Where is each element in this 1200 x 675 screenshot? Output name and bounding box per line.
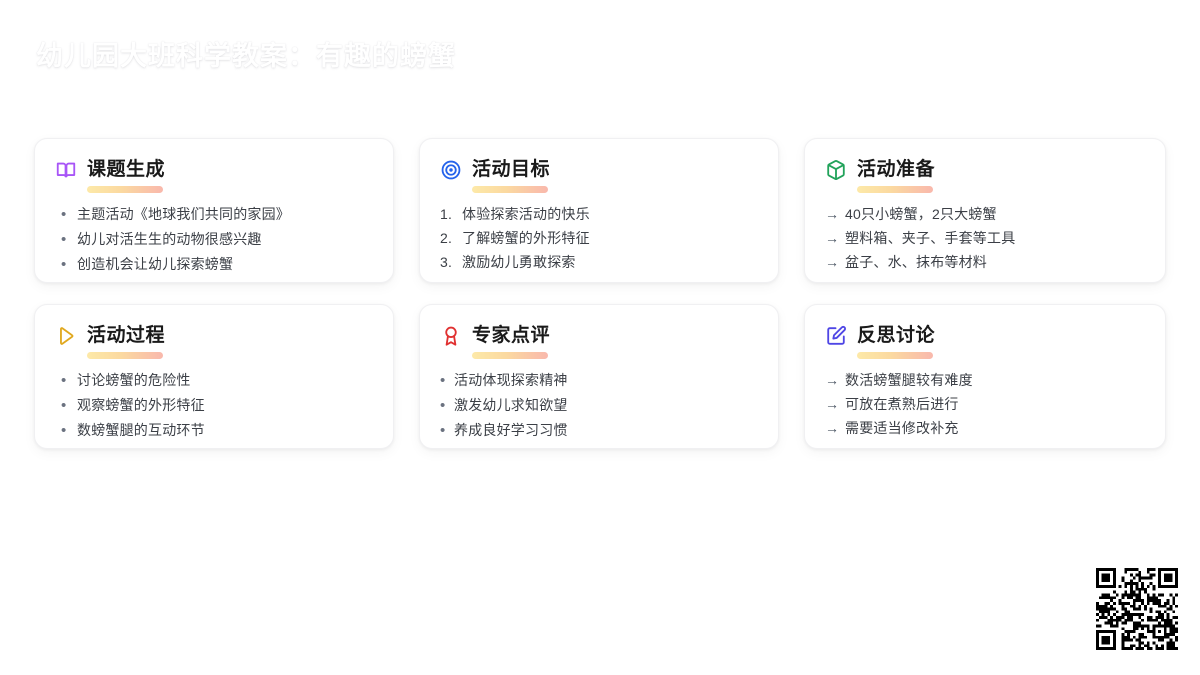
card-header: 活动过程	[55, 323, 373, 349]
list-item-text: 激发幼儿求知欲望	[454, 393, 568, 417]
list-item-text: 塑料箱、夹子、手套等工具	[845, 226, 1015, 250]
card-title: 活动过程	[87, 324, 165, 348]
card-title: 活动准备	[857, 158, 935, 182]
list-item: → 需要适当修改补充	[825, 416, 1145, 440]
list-marker: →	[825, 416, 845, 440]
card-activity-preparation[interactable]: 活动准备 → 40只小螃蟹，2只大螃蟹 → 塑料箱、夹子、手套等工具 → 盆子、…	[804, 138, 1166, 283]
card-list: 1. 体验探索活动的快乐 2. 了解螃蟹的外形特征 3. 激励幼儿勇敢探索	[440, 202, 758, 274]
list-marker: →	[825, 392, 845, 416]
list-item-text: 可放在煮熟后进行	[845, 392, 959, 416]
list-item-text: 活动体现探索精神	[454, 368, 568, 392]
card-reflection-discussion[interactable]: 反思讨论 → 数活螃蟹腿较有难度 → 可放在煮熟后进行 → 需要适当修改补充	[804, 304, 1166, 449]
list-item: → 可放在煮熟后进行	[825, 392, 1145, 416]
page-title: 幼儿园大班科学教案：有趣的螃蟹	[36, 36, 456, 76]
title-underline	[857, 352, 933, 359]
list-item: • 幼儿对活生生的动物很感兴趣	[55, 227, 373, 252]
card-header: 活动目标	[440, 157, 758, 183]
list-item-text: 盆子、水、抹布等材料	[845, 250, 987, 274]
card-list: • 主题活动《地球我们共同的家园》 • 幼儿对活生生的动物很感兴趣 • 创造机会…	[55, 202, 373, 277]
list-item-text: 40只小螃蟹，2只大螃蟹	[845, 202, 997, 226]
list-item: • 活动体现探索精神	[440, 368, 758, 393]
list-item: • 养成良好学习习惯	[440, 418, 758, 443]
package-box-icon	[825, 159, 847, 181]
list-item-text: 体验探索活动的快乐	[462, 202, 590, 226]
edit-square-pen-icon	[825, 325, 847, 347]
card-grid: 课题生成 • 主题活动《地球我们共同的家园》 • 幼儿对活生生的动物很感兴趣 •…	[34, 138, 1166, 449]
list-marker: •	[55, 369, 77, 393]
list-item: → 40只小螃蟹，2只大螃蟹	[825, 202, 1145, 226]
card-header: 反思讨论	[825, 323, 1145, 349]
card-title: 专家点评	[472, 324, 550, 348]
card-header: 活动准备	[825, 157, 1145, 183]
list-marker: 2.	[440, 226, 462, 250]
list-item-text: 观察螃蟹的外形特征	[77, 393, 205, 417]
card-title: 活动目标	[472, 158, 550, 182]
list-marker: →	[825, 250, 845, 274]
list-item: 3. 激励幼儿勇敢探索	[440, 250, 758, 274]
list-item: • 主题活动《地球我们共同的家园》	[55, 202, 373, 227]
card-header: 课题生成	[55, 157, 373, 183]
title-underline	[472, 352, 548, 359]
list-item-text: 创造机会让幼儿探索螃蟹	[77, 252, 233, 276]
list-marker: •	[440, 369, 454, 393]
qr-code[interactable]	[1096, 568, 1178, 650]
list-marker: →	[825, 368, 845, 392]
title-underline	[472, 186, 548, 193]
list-item: 2. 了解螃蟹的外形特征	[440, 226, 758, 250]
award-medal-icon	[440, 325, 462, 347]
list-marker: •	[440, 394, 454, 418]
list-item: • 激发幼儿求知欲望	[440, 393, 758, 418]
list-item: • 观察螃蟹的外形特征	[55, 393, 373, 418]
list-marker: 3.	[440, 250, 462, 274]
card-topic-generation[interactable]: 课题生成 • 主题活动《地球我们共同的家园》 • 幼儿对活生生的动物很感兴趣 •…	[34, 138, 394, 283]
slide-canvas: 幼儿园大班科学教案：有趣的螃蟹 课题生成 • 主题活动《地球我们共同的家园》	[0, 0, 1200, 675]
list-item-text: 讨论螃蟹的危险性	[77, 368, 191, 392]
list-item: → 塑料箱、夹子、手套等工具	[825, 226, 1145, 250]
qr-code-image	[1096, 568, 1178, 650]
list-item: 1. 体验探索活动的快乐	[440, 202, 758, 226]
title-underline	[857, 186, 933, 193]
list-item: • 数螃蟹腿的互动环节	[55, 418, 373, 443]
list-item: → 盆子、水、抹布等材料	[825, 250, 1145, 274]
list-marker: •	[55, 228, 77, 252]
card-title: 反思讨论	[857, 324, 935, 348]
list-marker: •	[440, 419, 454, 443]
card-header: 专家点评	[440, 323, 758, 349]
list-item-text: 数活螃蟹腿较有难度	[845, 368, 973, 392]
list-item: • 讨论螃蟹的危险性	[55, 368, 373, 393]
list-item: → 数活螃蟹腿较有难度	[825, 368, 1145, 392]
card-title: 课题生成	[87, 158, 165, 182]
list-marker: •	[55, 253, 77, 277]
card-list: → 数活螃蟹腿较有难度 → 可放在煮熟后进行 → 需要适当修改补充	[825, 368, 1145, 440]
play-triangle-icon	[55, 325, 77, 347]
list-marker: →	[825, 202, 845, 226]
title-underline	[87, 186, 163, 193]
card-activity-goals[interactable]: 活动目标 1. 体验探索活动的快乐 2. 了解螃蟹的外形特征 3. 激励幼儿勇敢…	[419, 138, 779, 283]
card-list: → 40只小螃蟹，2只大螃蟹 → 塑料箱、夹子、手套等工具 → 盆子、水、抹布等…	[825, 202, 1145, 274]
open-book-icon	[55, 159, 77, 181]
title-underline	[87, 352, 163, 359]
list-item: • 创造机会让幼儿探索螃蟹	[55, 252, 373, 277]
list-item-text: 主题活动《地球我们共同的家园》	[77, 202, 290, 226]
list-item-text: 需要适当修改补充	[845, 416, 959, 440]
list-marker: →	[825, 226, 845, 250]
card-list: • 活动体现探索精神 • 激发幼儿求知欲望 • 养成良好学习习惯	[440, 368, 758, 443]
list-item-text: 幼儿对活生生的动物很感兴趣	[77, 227, 262, 251]
list-item-text: 了解螃蟹的外形特征	[462, 226, 590, 250]
list-item-text: 激励幼儿勇敢探索	[462, 250, 576, 274]
target-icon	[440, 159, 462, 181]
list-marker: 1.	[440, 202, 462, 226]
card-activity-process[interactable]: 活动过程 • 讨论螃蟹的危险性 • 观察螃蟹的外形特征 • 数螃蟹腿的互动环节	[34, 304, 394, 449]
list-marker: •	[55, 203, 77, 227]
list-marker: •	[55, 394, 77, 418]
list-item-text: 养成良好学习习惯	[454, 418, 568, 442]
list-item-text: 数螃蟹腿的互动环节	[77, 418, 205, 442]
list-marker: •	[55, 419, 77, 443]
card-list: • 讨论螃蟹的危险性 • 观察螃蟹的外形特征 • 数螃蟹腿的互动环节	[55, 368, 373, 443]
card-expert-review[interactable]: 专家点评 • 活动体现探索精神 • 激发幼儿求知欲望 • 养成良好学习习惯	[419, 304, 779, 449]
